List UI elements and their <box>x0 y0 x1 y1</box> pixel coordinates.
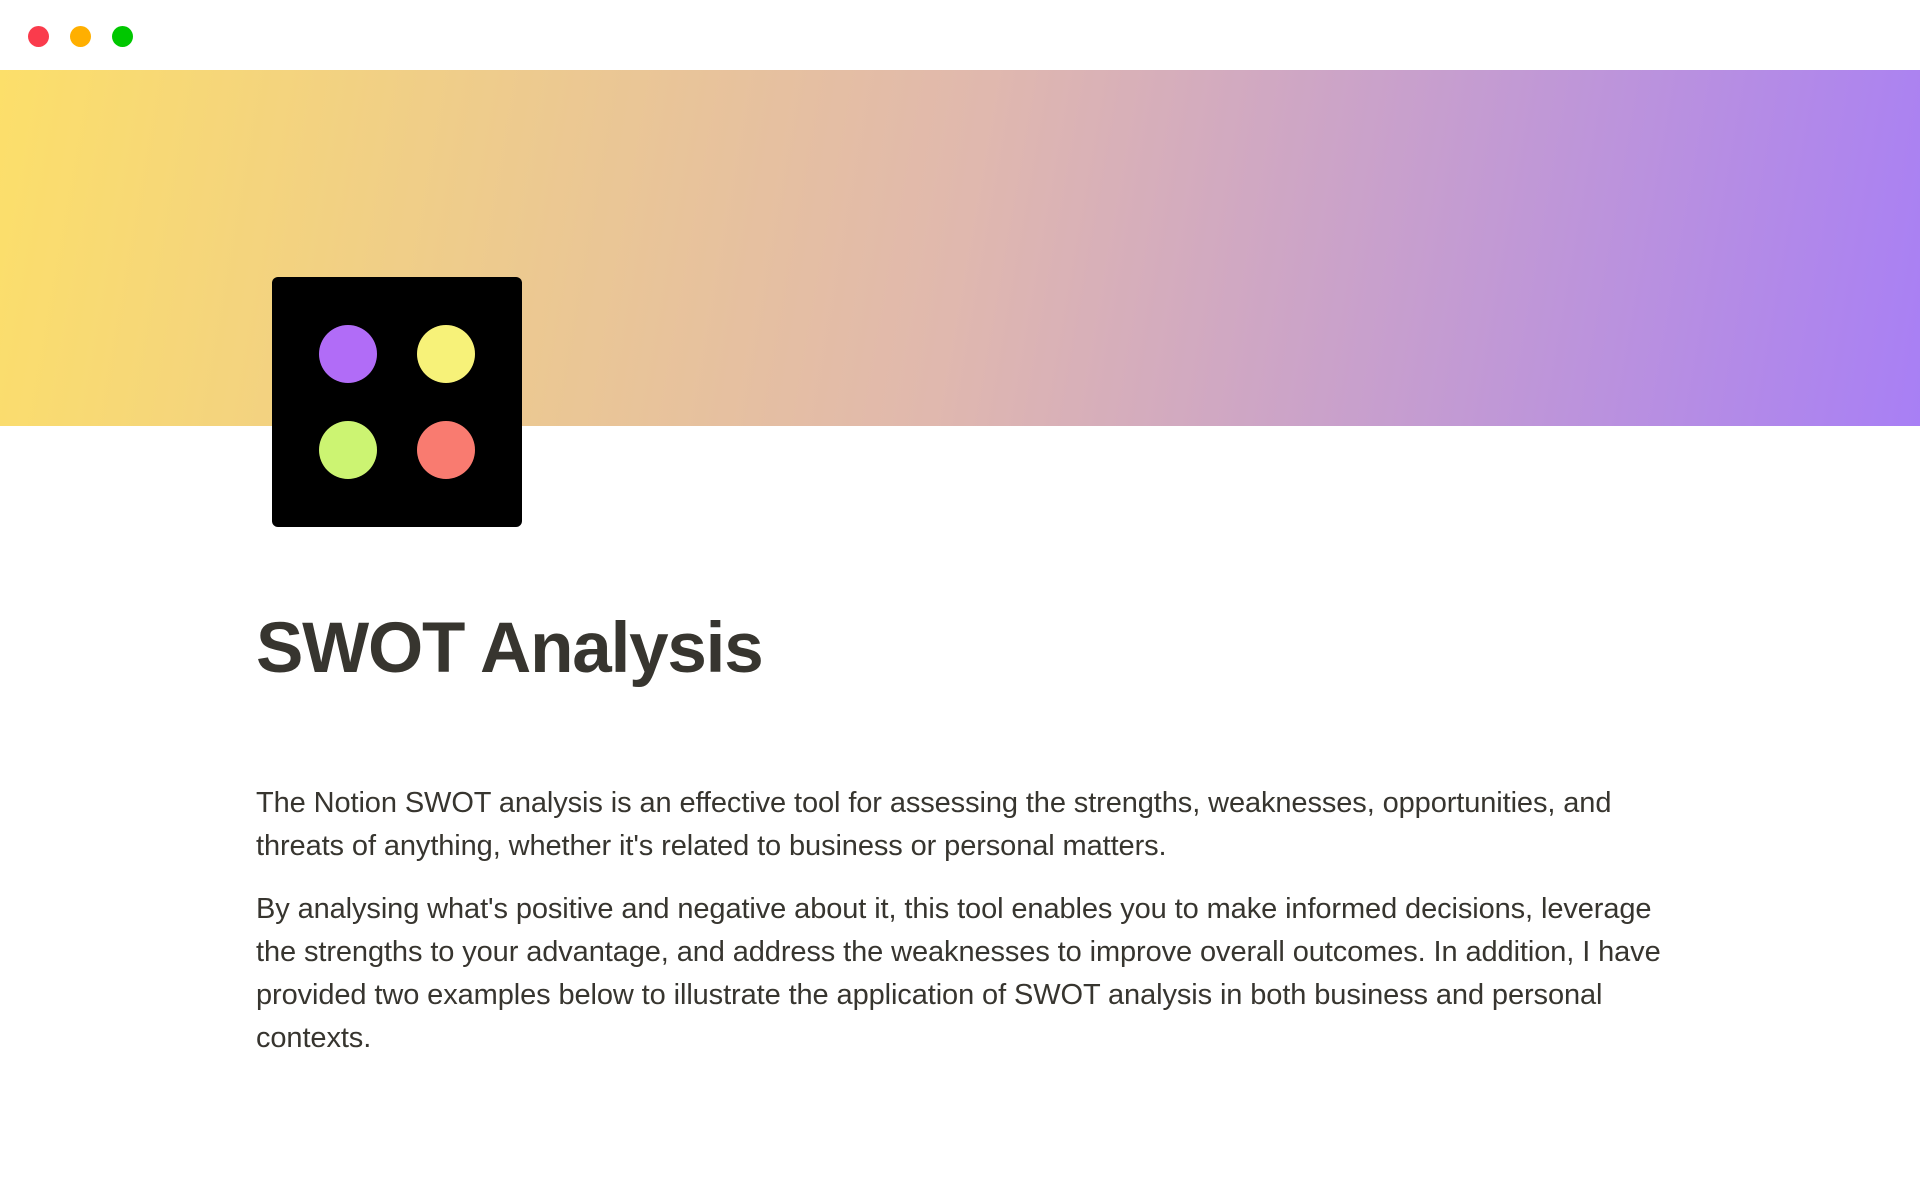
page-content: SWOT Analysis The Notion SWOT analysis i… <box>256 610 1706 1060</box>
page-paragraph-intro[interactable]: The Notion SWOT analysis is an effective… <box>256 782 1666 868</box>
page-icon[interactable] <box>272 277 522 527</box>
page-title[interactable]: SWOT Analysis <box>256 610 1706 688</box>
minimize-button[interactable] <box>70 26 91 47</box>
close-button[interactable] <box>28 26 49 47</box>
traffic-light-controls <box>28 26 133 47</box>
window-titlebar <box>0 0 1920 70</box>
app-window: SWOT Analysis The Notion SWOT analysis i… <box>0 0 1920 1200</box>
page-paragraph-description[interactable]: By analysing what's positive and negativ… <box>256 888 1666 1060</box>
maximize-button[interactable] <box>112 26 133 47</box>
icon-dot-salmon <box>417 421 475 479</box>
icon-dot-purple <box>319 325 377 383</box>
icon-dot-lime <box>319 421 377 479</box>
icon-dot-yellow <box>417 325 475 383</box>
